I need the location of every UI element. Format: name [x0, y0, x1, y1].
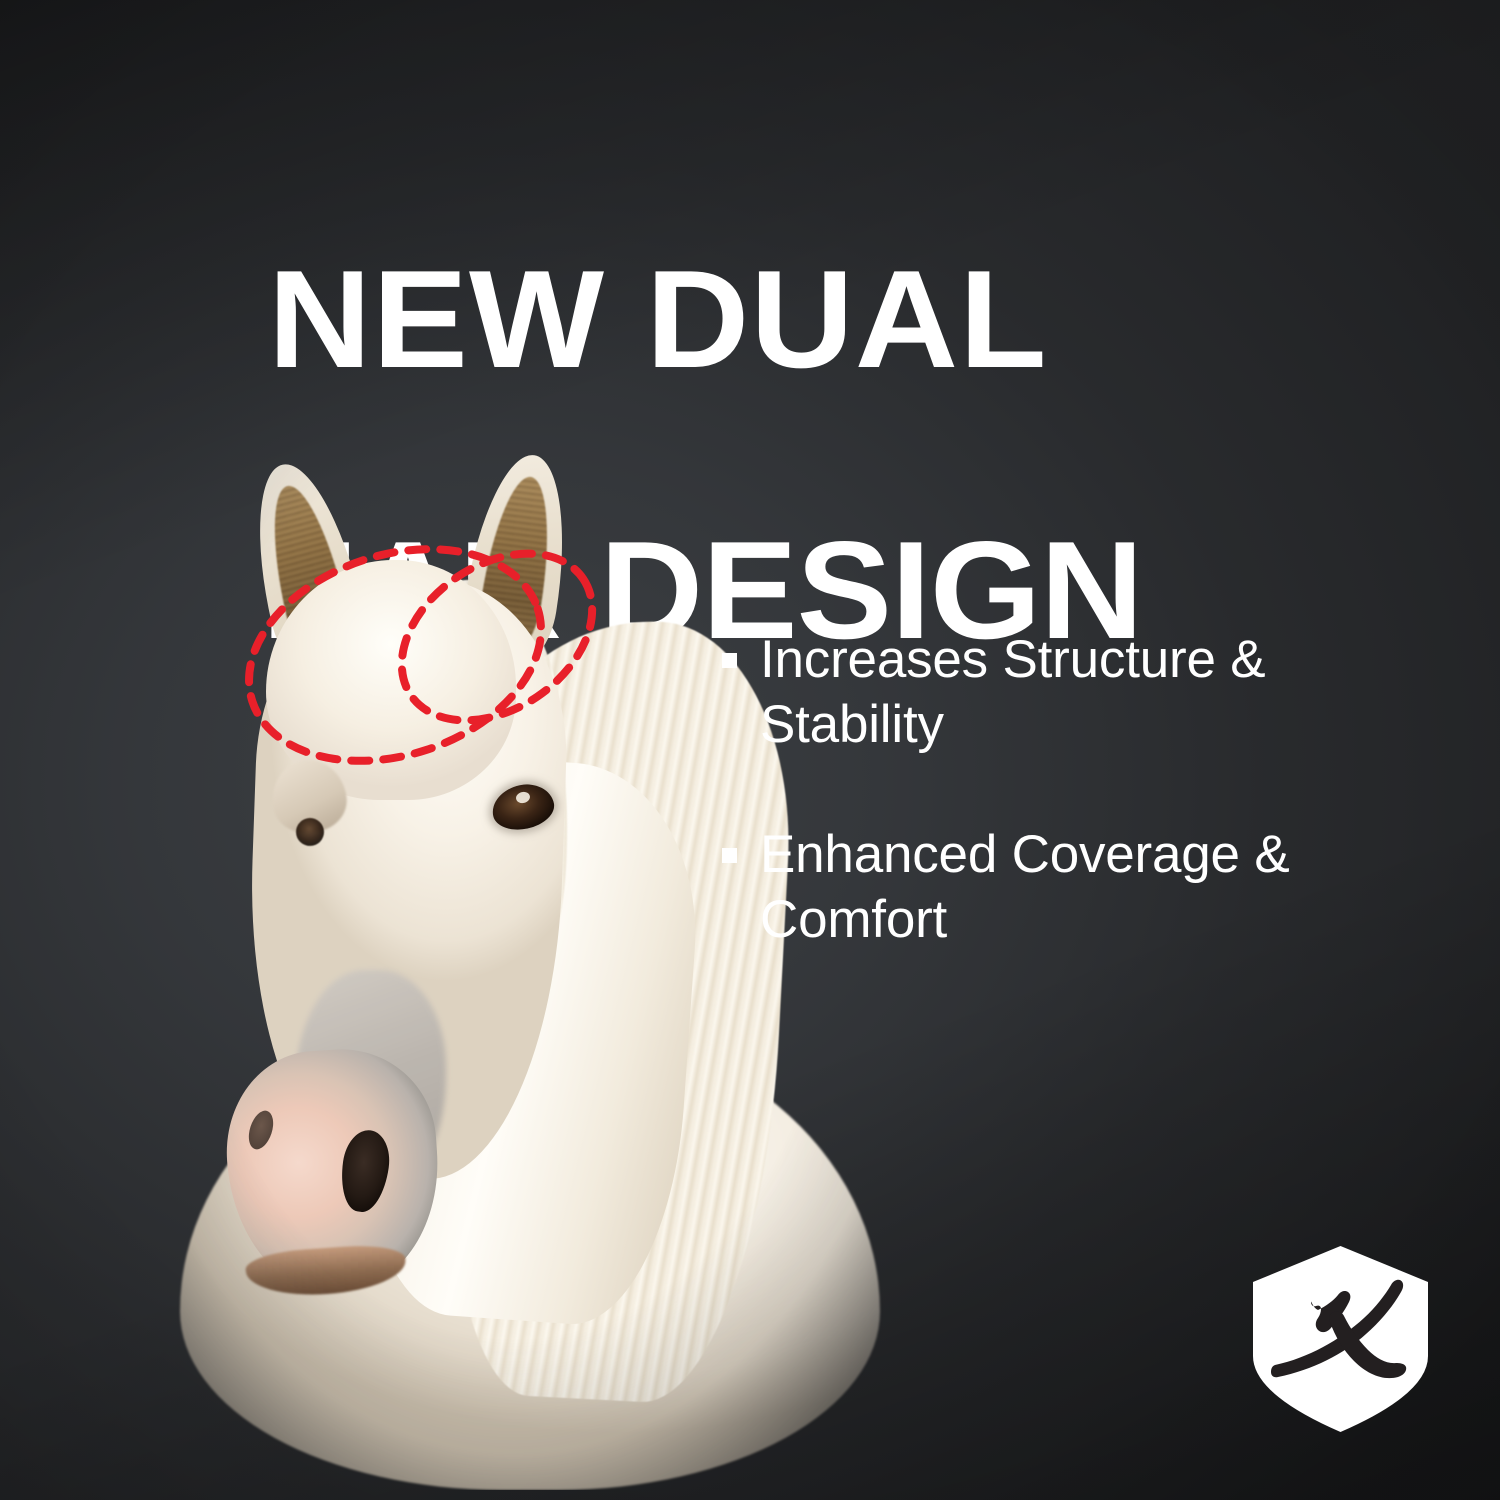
brand-logo: [1248, 1244, 1433, 1434]
bullet-label: Enhanced Coverage & Comfort: [760, 823, 1422, 952]
list-item: Enhanced Coverage & Comfort: [722, 823, 1422, 952]
feature-bullet-list: Increases Structure & Stability Enhanced…: [722, 628, 1422, 1019]
square-bullet-icon: [722, 848, 737, 863]
square-bullet-icon: [722, 653, 737, 668]
bullet-label: Increases Structure & Stability: [760, 628, 1422, 757]
headline-line-1: NEW DUAL: [268, 252, 1298, 388]
marketing-banner: NEW DUAL EAR DESIGN: [0, 0, 1500, 1500]
list-item: Increases Structure & Stability: [722, 628, 1422, 757]
